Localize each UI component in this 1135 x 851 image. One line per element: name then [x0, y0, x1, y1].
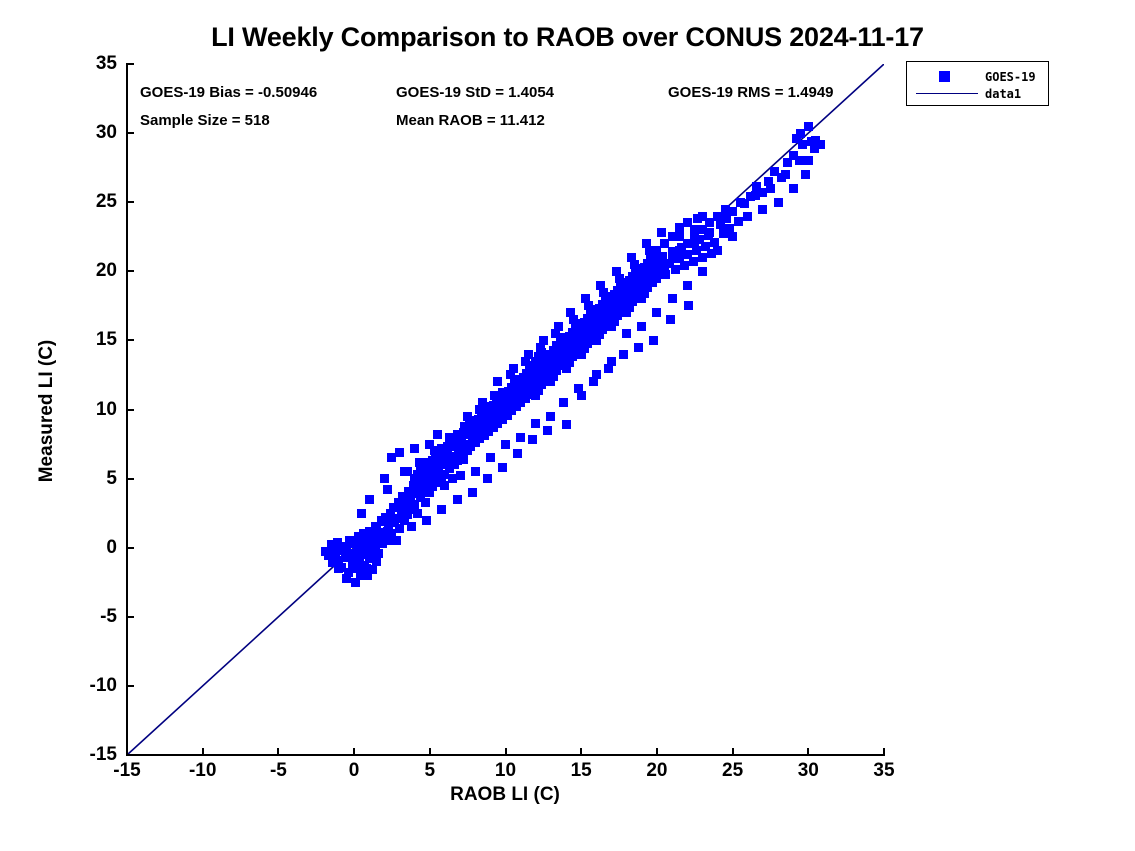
scatter-point: [668, 232, 677, 241]
scatter-point: [483, 474, 492, 483]
scatter-point: [612, 267, 621, 276]
scatter-point: [637, 322, 646, 331]
scatter-point: [589, 377, 598, 386]
scatter-point: [422, 458, 431, 467]
y-tick-label: 25: [57, 191, 117, 213]
scatter-point: [721, 205, 730, 214]
scatter-point: [330, 543, 339, 552]
scatter-point: [468, 416, 477, 425]
scatter-point: [422, 516, 431, 525]
scatter-point: [698, 225, 707, 234]
scatter-point: [581, 294, 590, 303]
scatter-point: [395, 448, 404, 457]
y-tick: [127, 754, 134, 756]
scatter-point: [483, 402, 492, 411]
scatter-point: [433, 430, 442, 439]
scatter-point: [689, 257, 698, 266]
y-tick-label: -5: [57, 606, 117, 628]
x-tick-label: 5: [400, 760, 460, 782]
scatter-point: [486, 453, 495, 462]
scatter-point: [437, 444, 446, 453]
y-tick: [127, 478, 134, 480]
x-tick: [732, 748, 734, 755]
scatter-point: [334, 564, 343, 573]
x-tick: [883, 748, 885, 755]
x-tick-label: 25: [703, 760, 763, 782]
scatter-point: [683, 281, 692, 290]
scatter-point: [421, 498, 430, 507]
y-tick: [127, 616, 134, 618]
scatter-point: [680, 261, 689, 270]
scatter-point: [493, 377, 502, 386]
scatter-point: [498, 388, 507, 397]
scatter-point: [363, 571, 372, 580]
scatter-point: [407, 522, 416, 531]
scatter-point: [652, 308, 661, 317]
scatter-point: [546, 412, 555, 421]
scatter-point: [698, 212, 707, 221]
scatter-point: [559, 398, 568, 407]
x-tick-label: 30: [778, 760, 838, 782]
scatter-point: [498, 463, 507, 472]
scatter-point: [619, 350, 628, 359]
legend-label-data1: data1: [985, 87, 1021, 101]
scatter-point: [453, 495, 462, 504]
x-tick: [202, 748, 204, 755]
scatter-point: [736, 198, 745, 207]
x-tick-label: 10: [476, 760, 536, 782]
y-tick-label: 0: [57, 537, 117, 559]
y-tick-label: 5: [57, 468, 117, 490]
scatter-point: [372, 557, 381, 566]
y-tick-label: 20: [57, 260, 117, 282]
x-tick-label: 15: [551, 760, 611, 782]
scatter-point: [453, 430, 462, 439]
legend-line-swatch: [916, 93, 978, 94]
y-tick-label: 15: [57, 329, 117, 351]
scatter-point: [642, 239, 651, 248]
scatter-point: [395, 524, 404, 533]
x-axis-label: RAOB LI (C): [0, 784, 1010, 806]
scatter-point: [668, 294, 677, 303]
y-tick: [127, 409, 134, 411]
legend-marker-swatch: [939, 71, 950, 82]
chart-title: LI Weekly Comparison to RAOB over CONUS …: [0, 22, 1135, 53]
x-tick-label: 20: [627, 760, 687, 782]
scatter-point: [627, 253, 636, 262]
scatter-point: [634, 343, 643, 352]
x-tick: [277, 748, 279, 755]
scatter-point: [377, 516, 386, 525]
scatter-point: [392, 536, 401, 545]
scatter-point: [781, 170, 790, 179]
scatter-point: [437, 505, 446, 514]
scatter-point: [751, 191, 760, 200]
scatter-point: [383, 485, 392, 494]
scatter-point: [513, 375, 522, 384]
plot-area: [127, 64, 884, 755]
scatter-point: [684, 301, 693, 310]
scatter-point: [596, 281, 605, 290]
scatter-point: [410, 444, 419, 453]
x-tick: [429, 748, 431, 755]
x-tick-label: 0: [324, 760, 384, 782]
scatter-point: [649, 336, 658, 345]
y-tick: [127, 339, 134, 341]
scatter-point: [774, 198, 783, 207]
y-tick-label: 30: [57, 122, 117, 144]
scatter-point: [513, 449, 522, 458]
scatter-point: [804, 156, 813, 165]
scatter-point: [698, 253, 707, 262]
scatter-point: [471, 467, 480, 476]
scatter-point: [350, 557, 359, 566]
scatter-point: [387, 516, 396, 525]
figure: LI Weekly Comparison to RAOB over CONUS …: [0, 0, 1135, 851]
scatter-point: [713, 246, 722, 255]
scatter-point: [537, 348, 546, 357]
x-tick: [505, 748, 507, 755]
legend-label-goes19: GOES-19: [985, 70, 1036, 84]
scatter-point: [566, 308, 575, 317]
y-tick: [127, 132, 134, 134]
scatter-point: [801, 170, 810, 179]
scatter-point: [734, 217, 743, 226]
scatter-point: [657, 228, 666, 237]
scatter-point: [683, 218, 692, 227]
x-tick: [580, 748, 582, 755]
y-tick-label: 35: [57, 53, 117, 75]
scatter-point: [789, 184, 798, 193]
legend[interactable]: GOES-19 data1: [906, 61, 1049, 106]
y-tick: [127, 270, 134, 272]
y-tick: [127, 685, 134, 687]
scatter-point: [351, 578, 360, 587]
y-tick-label: -10: [57, 675, 117, 697]
scatter-point: [743, 212, 752, 221]
y-tick: [127, 201, 134, 203]
scatter-point: [698, 267, 707, 276]
y-tick-label: 10: [57, 399, 117, 421]
x-tick-label: -15: [97, 760, 157, 782]
scatter-point: [604, 364, 613, 373]
scatter-point: [383, 527, 392, 536]
scatter-point: [531, 419, 540, 428]
scatter-point: [574, 384, 583, 393]
scatter-point: [622, 329, 631, 338]
scatter-point: [342, 574, 351, 583]
y-tick: [127, 63, 134, 65]
scatter-point: [543, 426, 552, 435]
x-tick: [656, 748, 658, 755]
scatter-point: [562, 420, 571, 429]
scatter-point: [357, 509, 366, 518]
scatter-point: [811, 136, 820, 145]
y-tick: [127, 547, 134, 549]
scatter-point: [456, 471, 465, 480]
x-tick-label: -5: [248, 760, 308, 782]
scatter-point: [758, 205, 767, 214]
scatter-point: [652, 246, 661, 255]
x-tick: [353, 748, 355, 755]
scatter-point: [728, 232, 737, 241]
scatter-point: [666, 315, 675, 324]
x-tick-label: 35: [854, 760, 914, 782]
scatter-point: [501, 440, 510, 449]
scatter-point: [671, 265, 680, 274]
scatter-point: [516, 433, 525, 442]
scatter-point: [528, 435, 537, 444]
scatter-point: [795, 156, 804, 165]
scatter-point: [365, 495, 374, 504]
scatter-point: [380, 474, 389, 483]
y-axis-label: Measured LI (C): [36, 331, 58, 491]
x-tick-label: -10: [173, 760, 233, 782]
scatter-point: [796, 129, 805, 138]
scatter-point: [459, 455, 468, 464]
scatter-point: [798, 140, 807, 149]
x-tick: [807, 748, 809, 755]
x-tick: [126, 748, 128, 755]
scatter-point: [468, 488, 477, 497]
scatter-point: [400, 467, 409, 476]
scatter-point: [413, 509, 422, 518]
scatter-point: [766, 184, 775, 193]
